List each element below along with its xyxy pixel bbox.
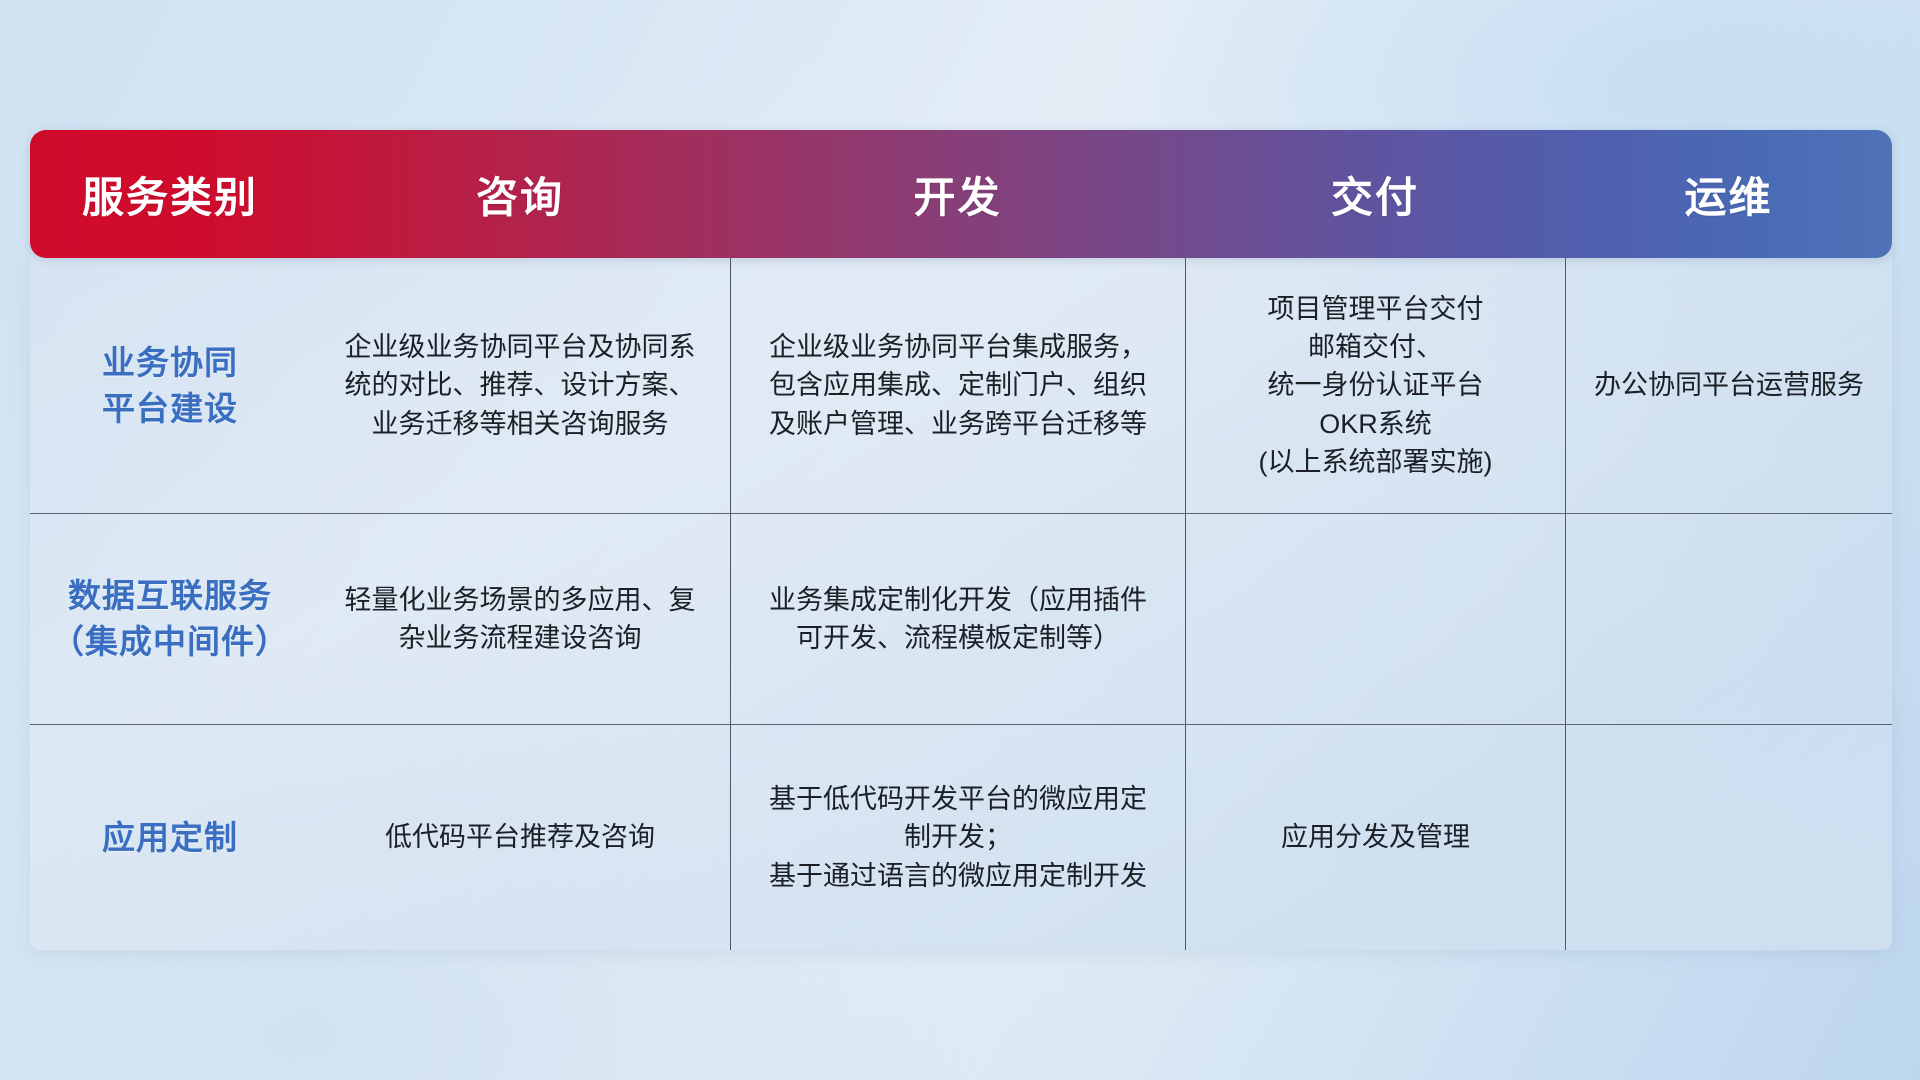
page-root: 服务类别 咨询 开发 交付 运维 业务协同 平台建设 企业级业务协同平台及协同系…	[0, 0, 1920, 1080]
table-cell-development: 业务集成定制化开发（应用插件 可开发、流程模板定制等）	[730, 514, 1185, 724]
table-cell-consulting: 轻量化业务场景的多应用、复 杂业务流程建设咨询	[310, 514, 730, 724]
table-cell-development: 企业级业务协同平台集成服务， 包含应用集成、定制门户、组织 及账户管理、业务跨平…	[730, 258, 1185, 513]
table-cell-delivery: 项目管理平台交付 邮箱交付、 统一身份认证平台 OKR系统 (以上系统部署实施)	[1185, 258, 1565, 513]
table-cell-operations	[1565, 514, 1892, 724]
table-cell-consulting: 低代码平台推荐及咨询	[310, 725, 730, 950]
table-header-row: 服务类别 咨询 开发 交付 运维	[30, 130, 1892, 258]
table-cell-category: 应用定制	[30, 725, 310, 950]
table-body: 业务协同 平台建设 企业级业务协同平台及协同系 统的对比、推荐、设计方案、 业务…	[30, 252, 1892, 950]
table-cell-operations	[1565, 725, 1892, 950]
service-matrix-table: 服务类别 咨询 开发 交付 运维 业务协同 平台建设 企业级业务协同平台及协同系…	[30, 130, 1892, 950]
table-row: 应用定制 低代码平台推荐及咨询 基于低代码开发平台的微应用定 制开发； 基于通过…	[30, 724, 1892, 950]
table-cell-delivery	[1185, 514, 1565, 724]
table-row: 数据互联服务 （集成中间件） 轻量化业务场景的多应用、复 杂业务流程建设咨询 业…	[30, 513, 1892, 724]
table-header-cell-consulting: 咨询	[310, 130, 730, 258]
table-cell-category: 业务协同 平台建设	[30, 258, 310, 513]
table-cell-consulting: 企业级业务协同平台及协同系 统的对比、推荐、设计方案、 业务迁移等相关咨询服务	[310, 258, 730, 513]
table-cell-development: 基于低代码开发平台的微应用定 制开发； 基于通过语言的微应用定制开发	[730, 725, 1185, 950]
table-cell-operations: 办公协同平台运营服务	[1565, 258, 1892, 513]
table-header-cell-delivery: 交付	[1185, 130, 1565, 258]
table-header-cell-development: 开发	[730, 130, 1185, 258]
table-cell-delivery: 应用分发及管理	[1185, 725, 1565, 950]
table-header-cell-operations: 运维	[1565, 130, 1892, 258]
table-header-cell-category: 服务类别	[30, 130, 310, 258]
table-cell-category: 数据互联服务 （集成中间件）	[30, 514, 310, 724]
table-row: 业务协同 平台建设 企业级业务协同平台及协同系 统的对比、推荐、设计方案、 业务…	[30, 258, 1892, 513]
